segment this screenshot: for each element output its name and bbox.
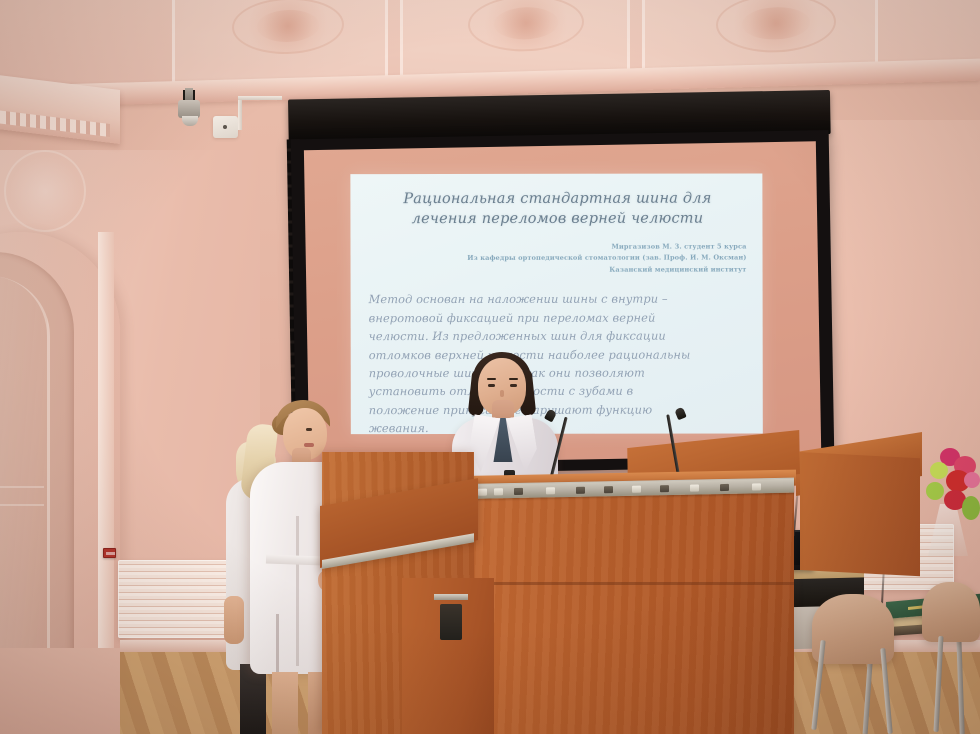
panel-button[interactable] [604, 486, 613, 493]
byline-author: Миргазизов М. З. студент 5 курса [368, 242, 746, 254]
panel-button[interactable] [660, 485, 669, 492]
slide-body-line: положение прикуса и не нарушают функцию [369, 400, 747, 419]
secondary-lectern-base [402, 578, 494, 734]
slide-title-line-1: Рациональная стандартная шина для [368, 189, 746, 209]
student-front-mouth [304, 443, 314, 447]
flower-bouquet [918, 446, 980, 550]
student-behind-arm [224, 596, 244, 644]
flower-petal [964, 472, 980, 488]
lectern-seam [464, 582, 794, 585]
panel-button[interactable] [546, 487, 555, 494]
slide-body-line: Метод основан на наложении шины с внутри… [369, 290, 747, 309]
presenter-brow [487, 378, 496, 380]
coat-fold [296, 516, 299, 666]
presentation-slide: Рациональная стандартная шина для лечени… [350, 173, 762, 434]
slide-body-line: проволочные шины, так как они позволяют [369, 363, 747, 382]
panel-button[interactable] [478, 489, 487, 496]
slide-title: Рациональная стандартная шина для лечени… [368, 189, 746, 229]
wall-medallion [4, 150, 86, 232]
slide-body-line: челюсти. Из предложенных шин для фиксаци… [369, 327, 747, 346]
flower-petal [930, 462, 948, 479]
wood-grain [464, 486, 794, 734]
door-panel-line [0, 486, 44, 488]
student-front-eye [306, 428, 312, 431]
slide-body-line: отломков верхней челюсти наиболее рацион… [369, 345, 747, 364]
presenter-nose [500, 390, 504, 397]
flower-leaf [926, 482, 944, 500]
presenter-eye [510, 384, 517, 387]
floor-shadow-left [0, 648, 120, 734]
lecture-hall-photo: Рациональная стандартная шина для лечени… [0, 0, 980, 734]
presenter-brow [509, 378, 518, 380]
panel-button[interactable] [514, 488, 523, 495]
coat-slit [276, 614, 279, 674]
projection-surface: Рациональная стандартная шина для лечени… [304, 141, 821, 464]
flower-leaf [962, 496, 980, 520]
student-front-leg [272, 672, 298, 734]
byline-institute: Казанский медицинский институт [369, 264, 747, 276]
slide-title-line-2: лечения переломов верней челюсти [368, 209, 746, 229]
far-right-lectern [800, 452, 920, 576]
slide-body-line: жевания. [369, 419, 747, 438]
presenter-eye [488, 384, 495, 387]
lectern-latch[interactable] [440, 604, 462, 640]
slide-body-line: внеротовой фиксацией при переломах верне… [369, 308, 747, 327]
wall-sensor-icon [213, 116, 238, 138]
student-behind-leg [240, 664, 266, 734]
fire-alarm-icon[interactable] [103, 548, 116, 558]
main-lectern [464, 486, 794, 734]
stacking-chair[interactable] [922, 582, 980, 642]
panel-button[interactable] [752, 483, 761, 490]
panel-button[interactable] [632, 486, 641, 493]
byline-department: Из кафедры ортопедической стоматологии (… [369, 253, 747, 265]
cable-conduit [238, 96, 242, 130]
door-panel-line [0, 504, 44, 506]
panel-button[interactable] [494, 488, 503, 495]
slide-body-text: Метод основан на наложении шины с внутри… [369, 290, 747, 438]
panel-button[interactable] [690, 484, 699, 491]
slide-body-line: установить отломка челюсти с зубами в [369, 382, 747, 401]
lectern-hinge [434, 594, 468, 600]
panel-button[interactable] [720, 484, 729, 491]
panel-button[interactable] [576, 487, 585, 494]
slide-byline: Миргазизов М. З. студент 5 курса Из кафе… [368, 242, 746, 277]
